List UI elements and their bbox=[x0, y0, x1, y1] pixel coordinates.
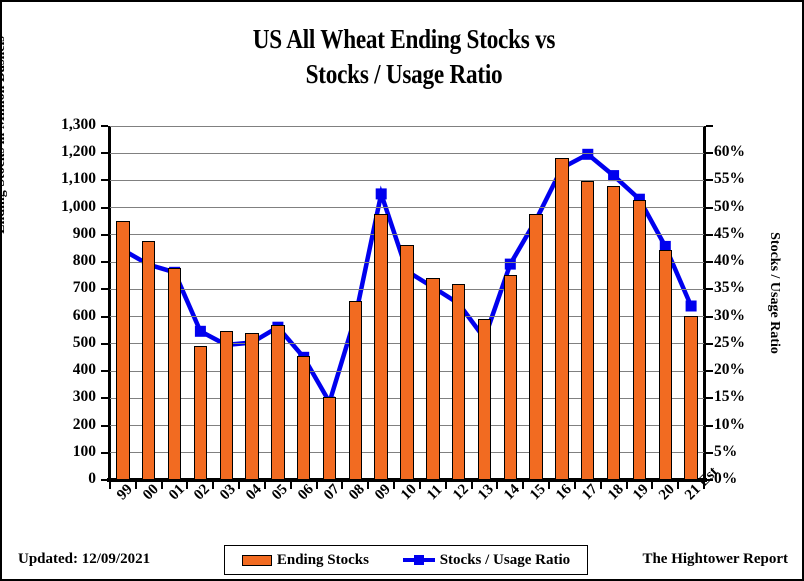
bar-ending-stocks bbox=[297, 356, 310, 480]
y-axis-label-right: 50% bbox=[714, 198, 774, 216]
y-axis-tick-right bbox=[706, 288, 713, 290]
y-axis-label-left: 1,000 bbox=[26, 198, 96, 216]
legend-item-ending-stocks: Ending Stocks bbox=[242, 552, 369, 569]
x-axis-tick bbox=[548, 481, 550, 489]
y-axis-label-left: 200 bbox=[26, 416, 96, 434]
y-axis-label-left: 100 bbox=[26, 443, 96, 461]
x-axis-tick bbox=[471, 481, 473, 489]
bar-ending-stocks bbox=[194, 346, 207, 480]
ratio-data-marker bbox=[376, 188, 387, 199]
x-axis-tick bbox=[109, 481, 111, 489]
bar-ending-stocks bbox=[374, 214, 387, 480]
gridline bbox=[110, 153, 704, 154]
y-axis-label-right: 45% bbox=[714, 225, 774, 243]
x-axis-tick bbox=[290, 481, 292, 489]
x-axis-label: 18 bbox=[605, 481, 628, 504]
bar-ending-stocks bbox=[245, 333, 258, 480]
y-axis-tick-left bbox=[101, 179, 108, 181]
chart-title-line-2: Stocks / Usage Ratio bbox=[58, 57, 749, 92]
bar-ending-stocks bbox=[142, 241, 155, 480]
y-axis-tick-right bbox=[706, 452, 713, 454]
x-axis-tick bbox=[316, 481, 318, 489]
updated-date: Updated: 12/09/2021 bbox=[18, 551, 150, 568]
y-axis-label-left: 0 bbox=[26, 470, 96, 488]
x-axis-label: 09 bbox=[372, 481, 395, 504]
y-axis-label-left: 1,200 bbox=[26, 143, 96, 161]
y-axis-label-right: 0% bbox=[714, 470, 774, 488]
gridline bbox=[110, 126, 704, 127]
gridline bbox=[110, 180, 704, 181]
y-axis-tick-left bbox=[101, 479, 108, 481]
y-axis-title-left: Ending Stocks in Million Bushels bbox=[0, 0, 9, 300]
bar-ending-stocks bbox=[607, 186, 620, 480]
x-axis-label: 11 bbox=[424, 482, 446, 504]
y-axis-tick-right bbox=[706, 370, 713, 372]
bar-ending-stocks bbox=[168, 268, 181, 480]
bar-ending-stocks bbox=[555, 158, 568, 480]
y-axis-tick-left bbox=[101, 425, 108, 427]
y-axis-tick-left bbox=[101, 343, 108, 345]
x-axis-label: 08 bbox=[346, 481, 369, 504]
bar-ending-stocks bbox=[581, 181, 594, 480]
y-axis-tick-right bbox=[706, 234, 713, 236]
x-axis-tick bbox=[574, 481, 576, 489]
x-axis-label: 03 bbox=[217, 481, 240, 504]
x-axis-tick bbox=[600, 481, 602, 489]
y-axis-tick-right bbox=[706, 261, 713, 263]
x-axis-tick bbox=[238, 481, 240, 489]
y-axis-label-right: 15% bbox=[714, 388, 774, 406]
x-axis-tick bbox=[496, 481, 498, 489]
y-axis-label-left: 1,300 bbox=[26, 116, 96, 134]
x-axis-tick bbox=[419, 481, 421, 489]
plot-area bbox=[110, 126, 704, 480]
ratio-data-marker bbox=[505, 259, 516, 270]
chart-container: US All Wheat Ending Stocks vs Stocks / U… bbox=[0, 0, 804, 581]
report-source: The Hightower Report bbox=[642, 551, 788, 568]
legend-swatch-bar-icon bbox=[242, 555, 272, 566]
bar-ending-stocks bbox=[452, 284, 465, 480]
x-axis-label: 15 bbox=[527, 481, 550, 504]
x-axis-label: 02 bbox=[191, 481, 214, 504]
y-axis-tick-right bbox=[706, 397, 713, 399]
y-axis-label-right: 20% bbox=[714, 361, 774, 379]
x-axis-label: 07 bbox=[321, 481, 344, 504]
y-axis-tick-left bbox=[101, 207, 108, 209]
x-axis-tick bbox=[445, 481, 447, 489]
x-axis-label: 99 bbox=[114, 481, 137, 504]
y-axis-tick-right bbox=[706, 207, 713, 209]
ratio-data-marker bbox=[195, 326, 206, 337]
y-axis-tick-left bbox=[101, 261, 108, 263]
y-axis-label-left: 900 bbox=[26, 225, 96, 243]
y-axis-label-left: 400 bbox=[26, 361, 96, 379]
x-axis-tick bbox=[341, 481, 343, 489]
y-axis-label-right: 30% bbox=[714, 307, 774, 325]
x-axis-label: 05 bbox=[269, 481, 292, 504]
x-axis-tick bbox=[393, 481, 395, 489]
legend-label-stocks-usage-ratio: Stocks / Usage Ratio bbox=[440, 552, 570, 569]
x-axis-tick bbox=[186, 481, 188, 489]
bar-ending-stocks bbox=[478, 319, 491, 480]
y-axis-tick-left bbox=[101, 234, 108, 236]
y-axis-tick-left bbox=[101, 370, 108, 372]
x-axis-tick bbox=[161, 481, 163, 489]
bar-ending-stocks bbox=[220, 331, 233, 480]
y-axis-tick-left bbox=[101, 152, 108, 154]
x-axis-label: 00 bbox=[140, 481, 163, 504]
x-axis-label: 13 bbox=[475, 481, 498, 504]
bar-ending-stocks bbox=[504, 275, 517, 480]
y-axis-label-left: 700 bbox=[26, 279, 96, 297]
x-axis-label: 12 bbox=[450, 481, 473, 504]
bar-ending-stocks bbox=[271, 325, 284, 480]
bar-ending-stocks bbox=[400, 245, 413, 480]
ratio-data-marker bbox=[686, 301, 697, 312]
y-axis-label-right: 60% bbox=[714, 143, 774, 161]
legend-item-stocks-usage-ratio: Stocks / Usage Ratio bbox=[403, 552, 570, 569]
y-axis-tick-left bbox=[101, 452, 108, 454]
y-axis-tick-left bbox=[101, 316, 108, 318]
bar-ending-stocks bbox=[529, 214, 542, 480]
y-axis-label-left: 800 bbox=[26, 252, 96, 270]
y-axis-tick-right bbox=[706, 316, 713, 318]
y-axis-label-right: 5% bbox=[714, 443, 774, 461]
x-axis-tick bbox=[264, 481, 266, 489]
y-axis-label-right: 10% bbox=[714, 416, 774, 434]
y-axis-tick-left bbox=[101, 125, 108, 127]
x-axis-tick bbox=[367, 481, 369, 489]
y-axis-tick-right bbox=[706, 125, 713, 127]
x-axis-tick bbox=[677, 481, 679, 489]
x-axis-label: 16 bbox=[553, 481, 576, 504]
y-axis-tick-left bbox=[101, 397, 108, 399]
x-axis-tick bbox=[626, 481, 628, 489]
x-axis-tick bbox=[135, 481, 137, 489]
chart-legend: Ending Stocks Stocks / Usage Ratio bbox=[224, 545, 588, 575]
ratio-data-marker bbox=[582, 149, 593, 160]
bar-ending-stocks bbox=[659, 250, 672, 480]
y-axis-tick-right bbox=[706, 425, 713, 427]
x-axis-label: 10 bbox=[398, 481, 421, 504]
x-axis-label: 04 bbox=[243, 481, 266, 504]
x-axis-tick bbox=[522, 481, 524, 489]
y-axis-tick-right bbox=[706, 152, 713, 154]
chart-title-line-1: US All Wheat Ending Stocks vs bbox=[58, 22, 749, 57]
x-axis-label: 17 bbox=[579, 481, 602, 504]
chart-title: US All Wheat Ending Stocks vs Stocks / U… bbox=[58, 22, 749, 92]
y-axis-label-left: 1,100 bbox=[26, 170, 96, 188]
x-axis-label: 14 bbox=[501, 481, 524, 504]
x-axis-label: 20 bbox=[656, 481, 679, 504]
x-axis-tick bbox=[651, 481, 653, 489]
y-axis-label-right: 40% bbox=[714, 252, 774, 270]
x-axis-tick bbox=[212, 481, 214, 489]
y-axis-label-right: 25% bbox=[714, 334, 774, 352]
y-axis-tick-right bbox=[706, 343, 713, 345]
y-axis-tick-right bbox=[706, 179, 713, 181]
legend-label-ending-stocks: Ending Stocks bbox=[277, 552, 369, 569]
bar-ending-stocks bbox=[426, 278, 439, 480]
x-axis-label: 19 bbox=[630, 481, 653, 504]
bar-ending-stocks bbox=[349, 301, 362, 480]
y-axis-label-right: 35% bbox=[714, 279, 774, 297]
x-axis-label: 06 bbox=[295, 481, 318, 504]
y-axis-tick-left bbox=[101, 288, 108, 290]
bar-ending-stocks bbox=[116, 221, 129, 480]
legend-swatch-line-icon bbox=[403, 554, 435, 566]
bar-ending-stocks bbox=[684, 316, 697, 480]
y-axis-label-right: 55% bbox=[714, 170, 774, 188]
bar-ending-stocks bbox=[323, 397, 336, 480]
y-axis-label-left: 500 bbox=[26, 334, 96, 352]
y-axis-label-left: 600 bbox=[26, 307, 96, 325]
bar-ending-stocks bbox=[633, 200, 646, 480]
y-axis-label-left: 300 bbox=[26, 388, 96, 406]
x-axis-label: 01 bbox=[166, 481, 189, 504]
